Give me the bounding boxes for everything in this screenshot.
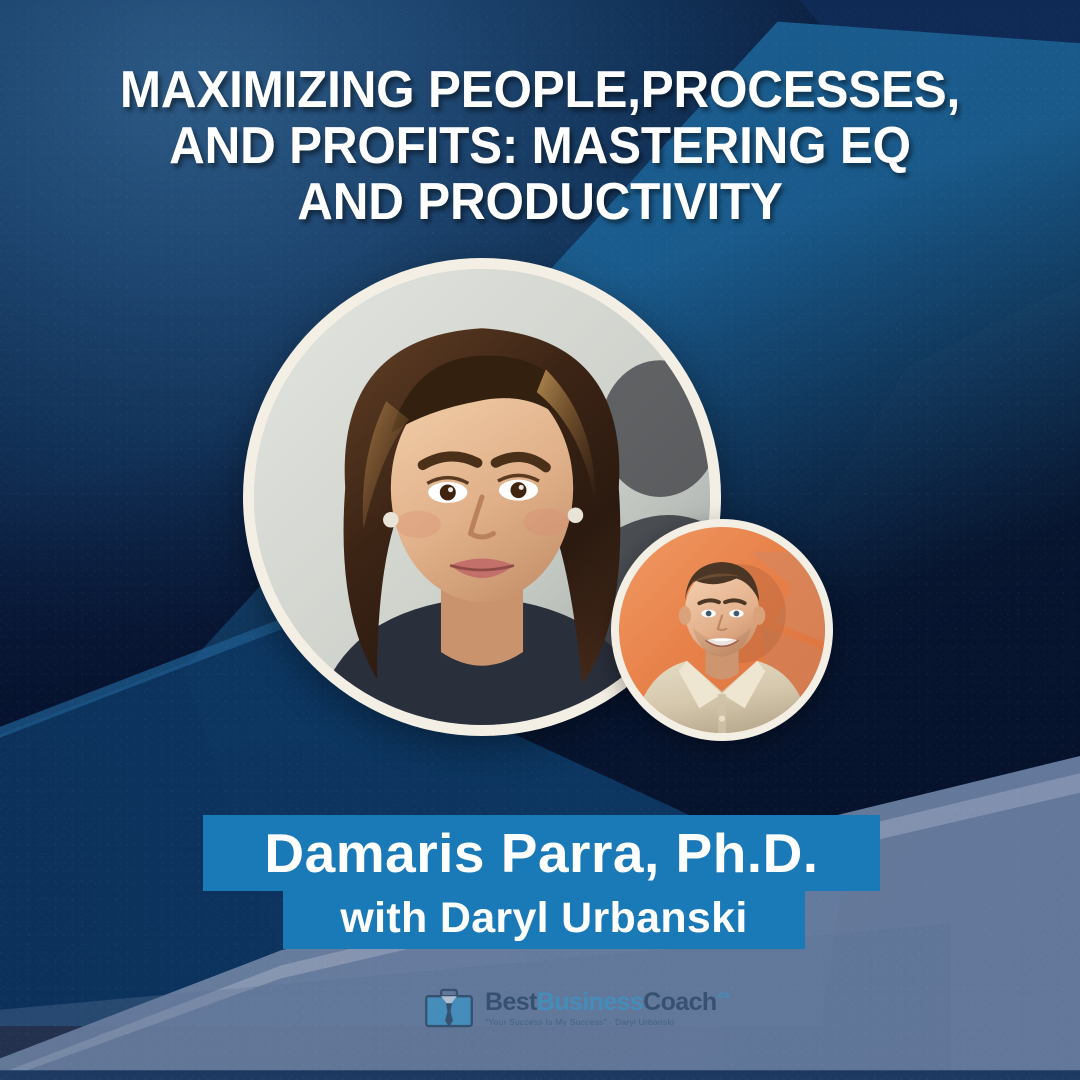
host-avatar-image [619,527,825,733]
brand-word-business: Business [537,990,643,1015]
host-avatar [611,519,833,741]
guest-name: Damaris Parra, Ph.D. [203,815,880,891]
brand-wordmark: BestBusinessCoach.ca [485,990,729,1015]
host-name: with Daryl Urbanski [283,888,805,948]
briefcase-tie-icon [421,986,477,1030]
brand-logo[interactable]: BestBusinessCoach.ca "Your Success Is My… [421,983,667,1033]
podcast-promo-poster: MAXIMIZING PEOPLE,PROCESSES, AND PROFITS… [0,0,1080,1080]
poster-title: MAXIMIZING PEOPLE,PROCESSES, AND PROFITS… [75,62,1006,230]
brand-word-coach: Coach [643,990,716,1015]
brand-tagline: "Your Success Is My Success" - Daryl Urb… [485,1017,729,1027]
host-portrait-illustration [619,527,825,733]
brand-logo-text: BestBusinessCoach.ca "Your Success Is My… [485,990,729,1027]
brand-tld: .ca [717,991,729,1001]
brand-word-best: Best [485,990,537,1015]
